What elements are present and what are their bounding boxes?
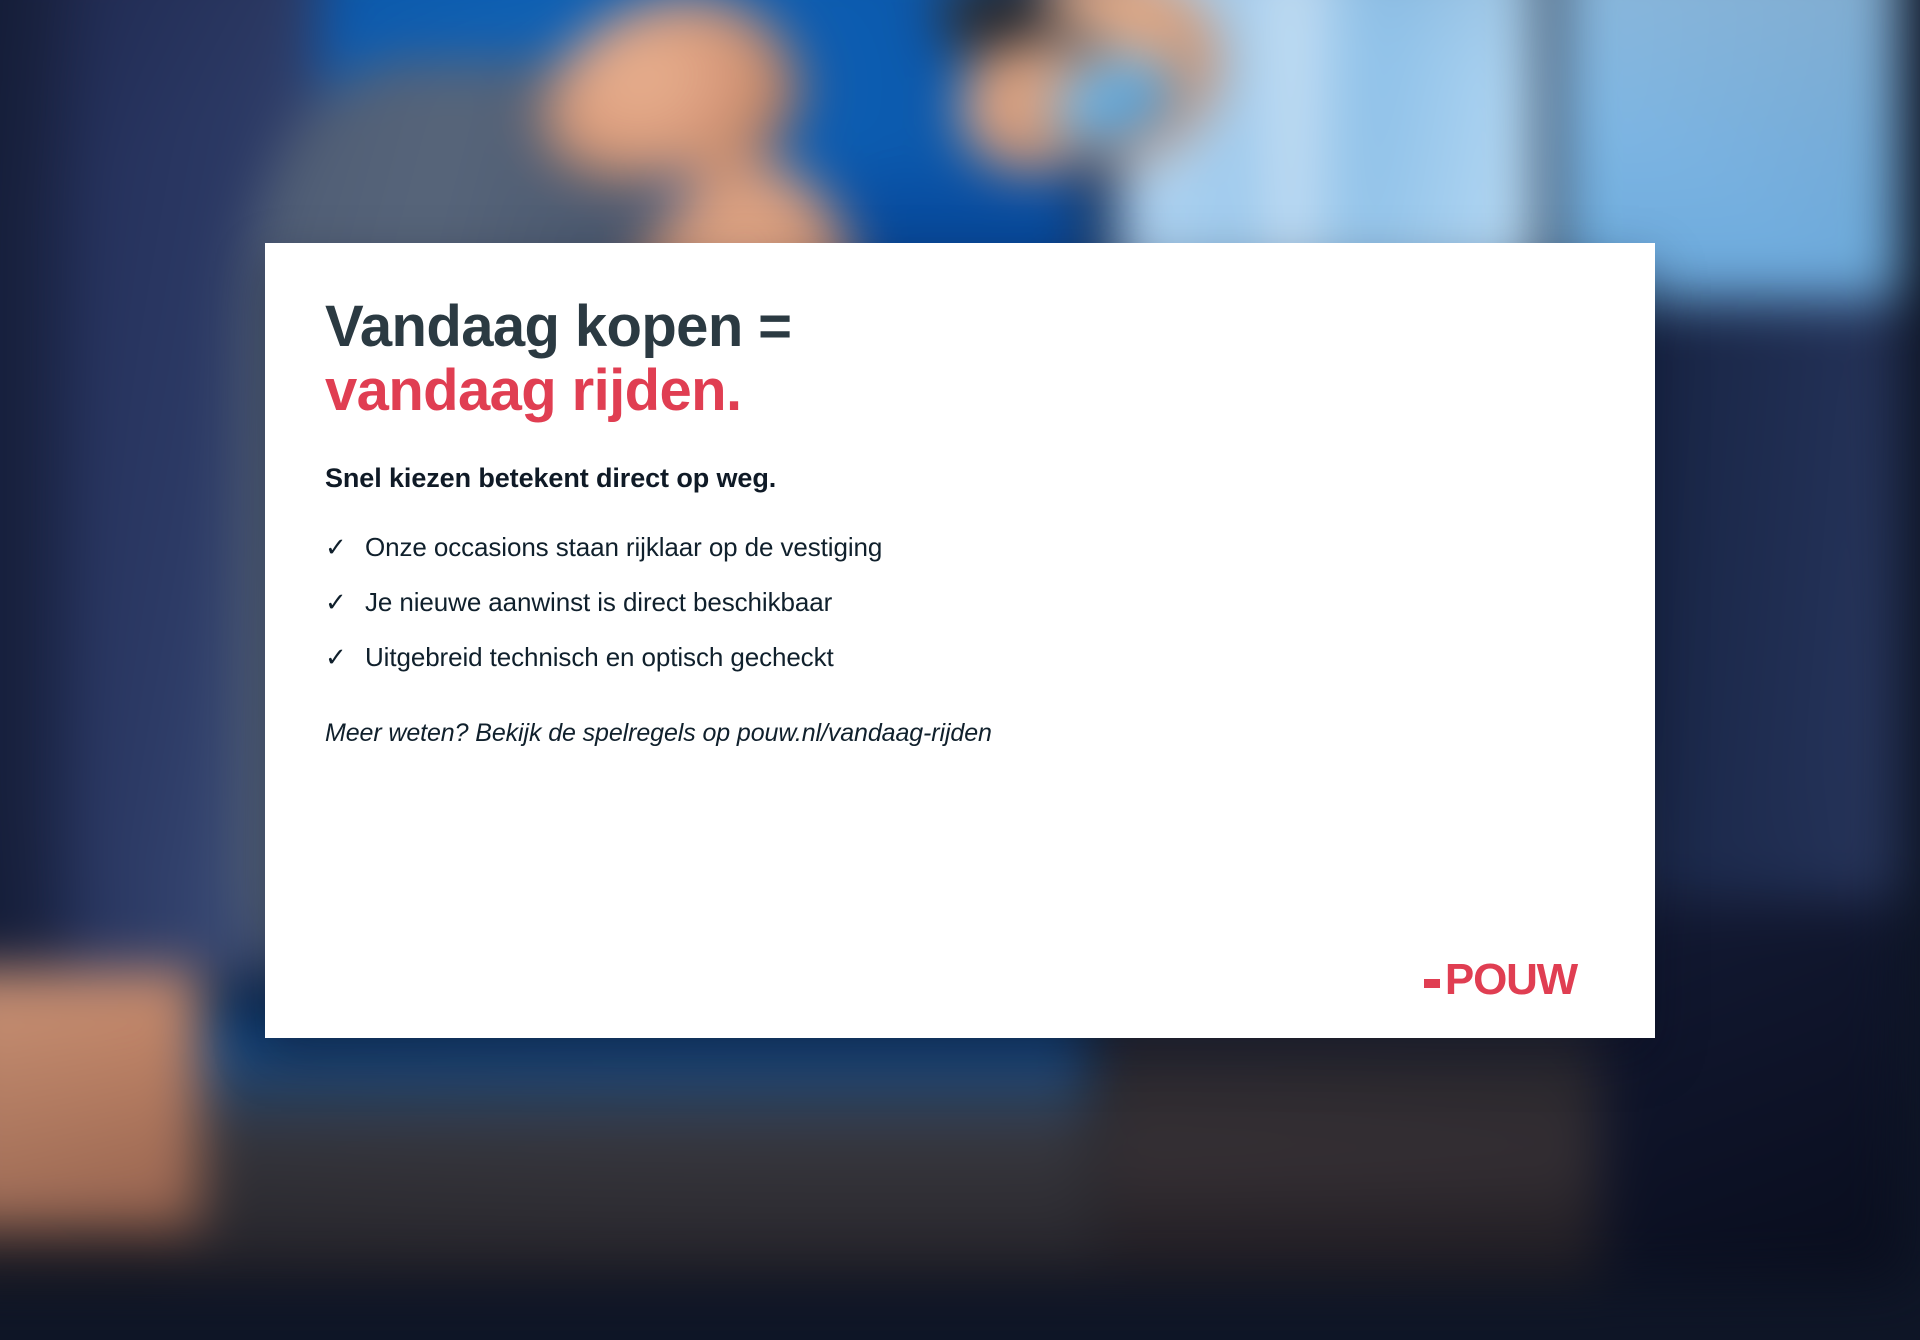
list-item: ✓ Onze occasions staan rijklaar op de ve… [325,532,1595,563]
subheading: Snel kiezen betekent direct op weg. [325,463,1595,494]
logo-dash-icon [1424,979,1440,988]
headline-line-2: vandaag rijden. [325,359,1595,423]
headline-line-1: Vandaag kopen = [325,295,1595,359]
list-item-label: Uitgebreid technisch en optisch gecheckt [365,642,834,673]
list-item: ✓ Je nieuwe aanwinst is direct beschikba… [325,587,1595,618]
list-item-label: Onze occasions staan rijklaar op de vest… [365,532,882,563]
list-item-label: Je nieuwe aanwinst is direct beschikbaar [365,587,832,618]
checkmark-icon: ✓ [325,589,365,615]
checkmark-icon: ✓ [325,644,365,670]
promo-card: Vandaag kopen = vandaag rijden. Snel kie… [265,243,1655,1038]
logo-row: POUW [325,958,1595,1004]
pouw-logo: POUW [1424,958,1577,1002]
logo-wordmark: POUW [1445,958,1577,1002]
checkmark-icon: ✓ [325,534,365,560]
benefits-list: ✓ Onze occasions staan rijklaar op de ve… [325,532,1595,697]
list-item: ✓ Uitgebreid technisch en optisch gechec… [325,642,1595,673]
page-title: Vandaag kopen = vandaag rijden. [325,295,1595,423]
footnote-text: Meer weten? Bekijk de spelregels op pouw… [325,719,1595,748]
